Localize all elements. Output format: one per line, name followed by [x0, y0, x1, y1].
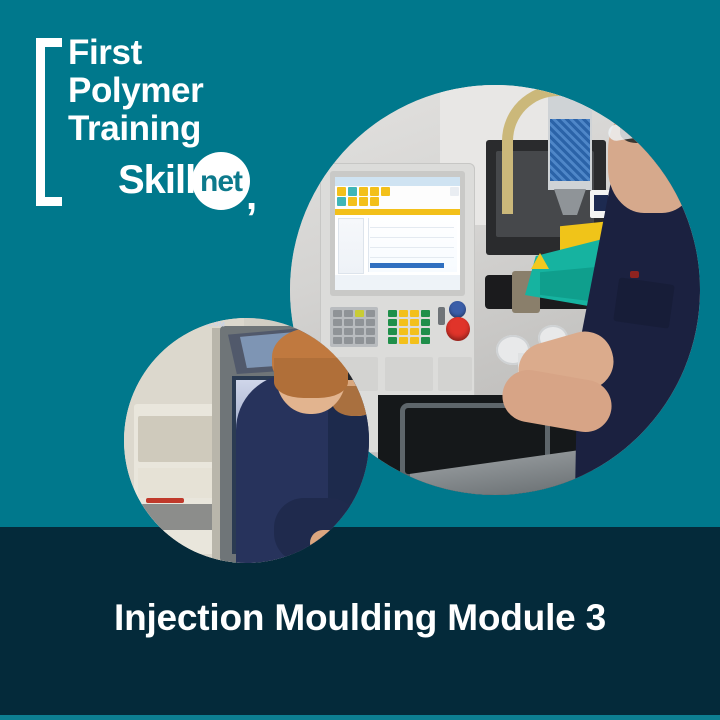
photo-hmi-icon	[348, 187, 357, 196]
brand-line-2: Polymer	[68, 72, 203, 110]
skillnet-logo: Skill net ,	[118, 152, 270, 214]
photo-key	[399, 310, 408, 317]
photo-blank-panel	[438, 357, 472, 391]
poster-canvas: Piovan	[0, 0, 720, 720]
photo-hmi-side-list	[338, 218, 364, 274]
photo2-trainee-hand	[310, 530, 344, 556]
photo-key	[355, 310, 364, 317]
photo-blank-panel	[385, 357, 433, 391]
photo-operator-pen-icon	[630, 271, 639, 278]
photo-hmi-icon	[370, 197, 379, 206]
skillnet-comma-icon: ,	[246, 176, 257, 216]
photo2-side-machine-lower	[140, 504, 220, 530]
photo-key	[388, 310, 397, 317]
photo-hmi-icon	[359, 197, 368, 206]
open-bracket-icon	[36, 38, 62, 206]
photo-key	[421, 310, 430, 317]
photo-key-switch-slot	[438, 307, 445, 325]
photo-hmi-gridline	[370, 247, 454, 248]
brand-wordmark: First Polymer Training	[68, 34, 203, 148]
photo-hmi-gridline	[370, 227, 454, 228]
photo-hmi-gridline	[370, 237, 454, 238]
photo-hmi-icon	[450, 187, 459, 196]
photo2-side-machine-upper	[138, 416, 222, 462]
photo-key	[399, 328, 408, 335]
brand-line-1: First	[68, 34, 203, 72]
photo-key	[366, 310, 375, 317]
photo-key	[421, 337, 430, 344]
photo-key	[421, 319, 430, 326]
photo-hmi-icon	[337, 197, 346, 206]
photo-hmi-icon	[348, 197, 357, 206]
photo-hmi-gridline	[370, 257, 454, 258]
skillnet-word: Skill	[118, 158, 195, 202]
photo-hmi-trace	[370, 263, 444, 268]
bottom-accent-strip	[0, 715, 720, 720]
photo-key	[410, 328, 419, 335]
photo-operator-pocket	[613, 277, 675, 328]
photo-key	[410, 337, 419, 344]
photo-hmi-icon	[370, 187, 379, 196]
secondary-photo-circle: WWW.FIRSTPOLYMER.COM	[124, 318, 369, 563]
photo-key	[388, 328, 397, 335]
photo-hmi-icon	[337, 187, 346, 196]
photo-key	[333, 310, 342, 317]
photo-key	[344, 310, 353, 317]
page-title: Injection Moulding Module 3	[0, 596, 720, 640]
photo2-trainee-hair-lower	[274, 358, 348, 398]
skillnet-net-text: net	[200, 166, 242, 198]
photo-hmi-toolbar	[335, 177, 460, 186]
photo-hmi-statusbar	[335, 275, 460, 290]
photo-key	[421, 328, 430, 335]
photo2-side-machine-mid	[138, 468, 222, 498]
photo-key	[399, 319, 408, 326]
photo-emergency-stop-icon	[446, 317, 470, 341]
photo-key	[410, 310, 419, 317]
photo-key	[399, 337, 408, 344]
photo-key	[388, 319, 397, 326]
photo-hmi-icon	[381, 187, 390, 196]
photo2-red-tool	[146, 498, 184, 503]
photo-key	[388, 337, 397, 344]
photo-key	[410, 319, 419, 326]
photo-hmi-icon	[359, 187, 368, 196]
photo-blue-button-icon	[449, 301, 466, 318]
brand-line-3: Training	[68, 110, 203, 148]
